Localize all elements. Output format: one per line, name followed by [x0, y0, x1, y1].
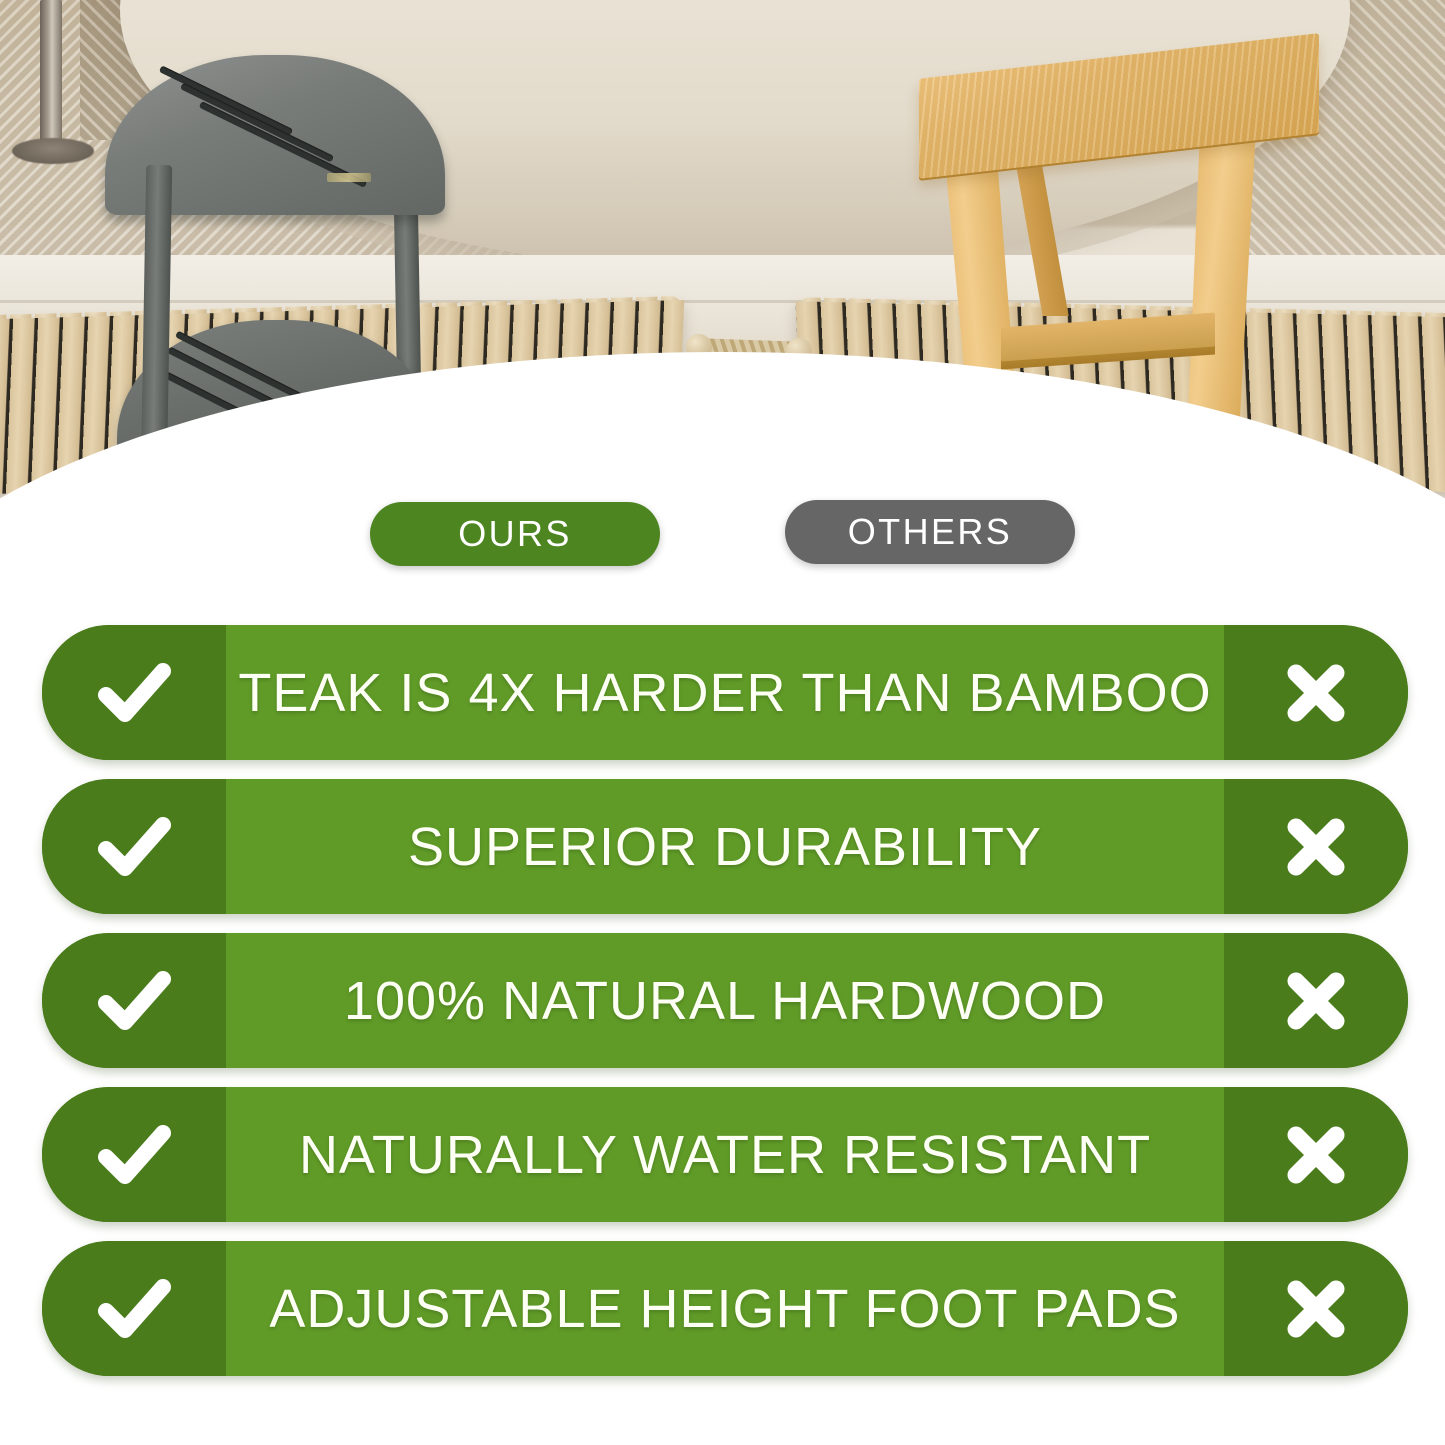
check-icon — [86, 1107, 182, 1203]
comparison-infographic: OURS OTHERS TEAK IS 4X HARDER THAN BAMBO… — [0, 0, 1445, 1445]
cross-icon — [1274, 805, 1358, 889]
comparison-row: NATURALLY WATER RESISTANT — [42, 1087, 1408, 1222]
shower-pole-base — [12, 138, 94, 164]
check-icon — [86, 953, 182, 1049]
ours-cell — [42, 779, 226, 914]
ours-badge: OURS — [370, 502, 660, 566]
comparison-row: ADJUSTABLE HEIGHT FOOT PADS — [42, 1241, 1408, 1376]
ours-cell — [42, 1087, 226, 1222]
feature-label-cell: NATURALLY WATER RESISTANT — [226, 1087, 1224, 1222]
brand-plate — [327, 173, 371, 182]
feature-label: NATURALLY WATER RESISTANT — [299, 1124, 1151, 1186]
others-cell — [1224, 1241, 1408, 1376]
comparison-row: TEAK IS 4X HARDER THAN BAMBOO — [42, 625, 1408, 760]
ours-cell — [42, 625, 226, 760]
ours-cell — [42, 1241, 226, 1376]
others-cell — [1224, 779, 1408, 914]
seat-slat — [159, 65, 293, 135]
feature-label-cell: TEAK IS 4X HARDER THAN BAMBOO — [226, 625, 1224, 760]
cross-icon — [1274, 651, 1358, 735]
feature-label-cell: SUPERIOR DURABILITY — [226, 779, 1224, 914]
check-icon — [86, 799, 182, 895]
others-badge: OTHERS — [785, 500, 1075, 564]
others-cell — [1224, 933, 1408, 1068]
comparison-rows: TEAK IS 4X HARDER THAN BAMBOO — [42, 625, 1408, 1395]
feature-label-cell: 100% NATURAL HARDWOOD — [226, 933, 1224, 1068]
feature-label: TEAK IS 4X HARDER THAN BAMBOO — [238, 662, 1211, 724]
hero-product-photo — [0, 0, 1445, 560]
cross-icon — [1274, 1267, 1358, 1351]
feature-label: ADJUSTABLE HEIGHT FOOT PADS — [269, 1278, 1180, 1340]
comparison-row: SUPERIOR DURABILITY — [42, 779, 1408, 914]
seat-slat — [180, 83, 334, 163]
shower-pole — [40, 0, 62, 150]
comparison-row: 100% NATURAL HARDWOOD — [42, 933, 1408, 1068]
photo-white-fade-base — [0, 520, 1445, 560]
others-cell — [1224, 625, 1408, 760]
cross-icon — [1274, 1113, 1358, 1197]
others-cell — [1224, 1087, 1408, 1222]
feature-label: 100% NATURAL HARDWOOD — [344, 970, 1106, 1032]
check-icon — [86, 1261, 182, 1357]
ours-cell — [42, 933, 226, 1068]
feature-label: SUPERIOR DURABILITY — [408, 816, 1042, 878]
check-icon — [86, 645, 182, 741]
cross-icon — [1274, 959, 1358, 1043]
feature-label-cell: ADJUSTABLE HEIGHT FOOT PADS — [226, 1241, 1224, 1376]
